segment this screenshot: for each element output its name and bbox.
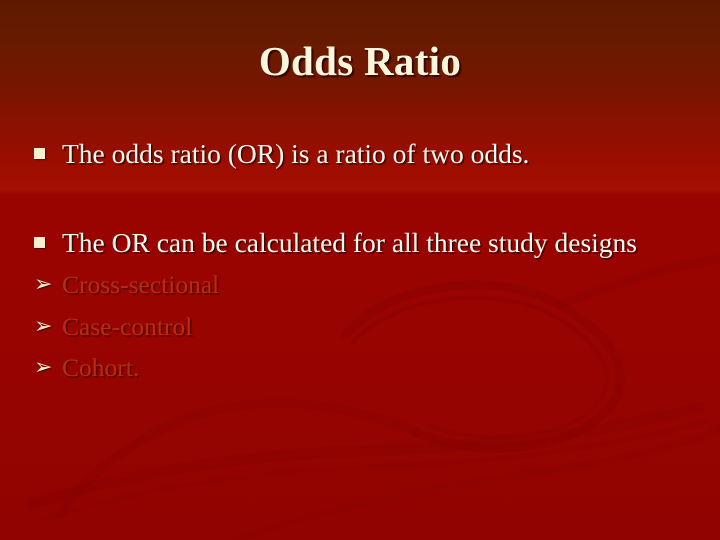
slide: Odds Ratio The odds ratio (OR) is a rati… — [0, 0, 720, 540]
bullet-text: The OR can be calculated for all three s… — [62, 225, 694, 262]
sub-bullet-text: Cross-sectional — [62, 268, 694, 302]
chevron-bullet-icon: ➢ — [34, 269, 56, 299]
bullet-text: The odds ratio (OR) is a ratio of two od… — [62, 136, 694, 173]
list-item: ➢ Case-control — [34, 310, 694, 344]
square-bullet-icon — [34, 237, 45, 248]
list-item: ➢ Cohort. — [34, 351, 694, 385]
sub-bullet-text: Case-control — [62, 310, 694, 344]
chevron-bullet-icon: ➢ — [34, 311, 56, 341]
slide-content-body: The odds ratio (OR) is a ratio of two od… — [34, 136, 694, 385]
list-item: The OR can be calculated for all three s… — [34, 225, 694, 262]
list-item: ➢ Cross-sectional — [34, 268, 694, 302]
square-bullet-icon — [34, 148, 45, 159]
chevron-bullet-icon: ➢ — [34, 352, 56, 382]
sub-bullet-text: Cohort. — [62, 351, 694, 385]
content-spacer — [34, 173, 694, 225]
list-item: The odds ratio (OR) is a ratio of two od… — [34, 136, 694, 173]
page-title: Odds Ratio — [0, 38, 720, 85]
